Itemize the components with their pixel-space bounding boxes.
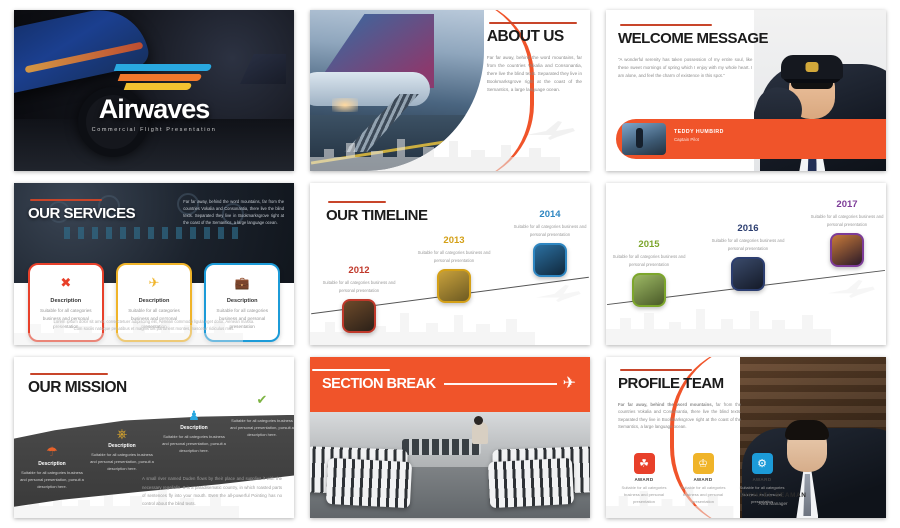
slide-our-services[interactable]: OUR SERVICES Far far away, behind the wo… <box>14 183 294 344</box>
boarding-pass-icon: ✈ <box>144 273 164 293</box>
airplane-silhouette-icon <box>534 283 582 303</box>
services-footer: Lorem ipsum dolor sit amet, consectetuer… <box>52 318 256 333</box>
slide-section-break[interactable]: SECTION BREAK ✈ <box>310 357 590 518</box>
mission-item[interactable]: ⎈ Description Suitable for all categorie… <box>90 427 154 472</box>
airplane-icon: ✈ <box>563 376 576 392</box>
seat-row <box>488 458 574 508</box>
timeline-thumbnail <box>731 257 765 291</box>
badge-icon: ⚙ <box>752 453 773 474</box>
timeline-desc: Suitable for all categories business and… <box>612 253 686 268</box>
timeline-node[interactable]: 2017 Suitable for all categories busines… <box>810 199 884 267</box>
award-title: AWARD <box>618 477 670 482</box>
profile-text-column: PROFILE TEAM Far far away, behind the wo… <box>618 375 741 431</box>
pilot-cap-icon: ⎈ <box>90 427 154 440</box>
timeline-desc: Suitable for all categories business and… <box>513 223 587 238</box>
timeline-thumbnail <box>533 243 567 277</box>
mission-item-title: Description <box>90 443 154 449</box>
light-glow <box>332 98 358 112</box>
mission-item-desc: Suitable for all categories business and… <box>20 469 84 490</box>
timeline-desc: Suitable for all categories business and… <box>810 213 884 228</box>
airplane-silhouette-icon <box>826 278 876 299</box>
timeline-node[interactable]: 2015 Suitable for all categories busines… <box>612 239 686 307</box>
airplane-silhouette-icon <box>524 119 576 141</box>
timeline-desc: Suitable for all categories business and… <box>417 249 491 264</box>
brand-title: Airwaves <box>14 96 294 123</box>
welcome-quote: "A wonderful serenity has taken possessi… <box>618 56 752 80</box>
mission-item[interactable]: ✔ Description Suitable for all categorie… <box>230 393 294 438</box>
slide-profile-team[interactable]: PROFILE TEAM Far far away, behind the wo… <box>606 357 886 518</box>
section-break-banner: SECTION BREAK ✈ <box>310 357 590 412</box>
speaker-role: Captain Pilot <box>674 137 724 142</box>
ticket-icon: ✖ <box>56 273 76 293</box>
slide-about-us[interactable]: ABOUT US Far far away, behind the word m… <box>310 10 590 171</box>
timeline-node[interactable]: 2014 Suitable for all categories busines… <box>513 209 587 277</box>
about-body: Far far away, behind the word mountains,… <box>487 54 582 94</box>
mission-item-title: Description <box>230 409 294 415</box>
seat-row <box>326 458 412 508</box>
about-title: ABOUT US <box>487 28 582 46</box>
person-icon: ♟ <box>162 409 226 422</box>
mission-item[interactable]: ☂ Description Suitable for all categorie… <box>20 445 84 490</box>
welcome-text-column: WELCOME MESSAGE "A wonderful serenity ha… <box>618 30 752 80</box>
mission-paragraph: A small river named Duden flows by their… <box>142 475 282 508</box>
speaker-name: TEDDY HUMBIRD <box>674 129 724 135</box>
speaker-card[interactable]: TEDDY HUMBIRD Captain Pilot <box>616 119 886 159</box>
timeline-year: 2017 <box>810 199 884 210</box>
member-hair-shape <box>785 420 829 440</box>
timeline-year: 2012 <box>322 265 396 276</box>
timeline-year: 2015 <box>612 239 686 250</box>
suitcase-icon: 💼 <box>232 273 252 293</box>
member-name: MICHAEL SEAMAN <box>718 492 828 499</box>
medal-icon: ☘ <box>634 453 655 474</box>
welcome-title: WELCOME MESSAGE <box>618 30 752 47</box>
timeline-thumbnail <box>830 233 864 267</box>
cap-badge-icon <box>806 62 819 72</box>
timeline-node[interactable]: 2013 Suitable for all categories busines… <box>417 235 491 303</box>
award-item[interactable]: ☘ AWARD Suitable for all categories busi… <box>618 453 670 506</box>
award-title: AWARD <box>736 477 788 482</box>
timeline-thumbnail <box>437 269 471 303</box>
mission-item-desc: Suitable for all categories business and… <box>230 417 294 438</box>
mission-item-desc: Suitable for all categories business and… <box>162 433 226 454</box>
profile-lead: Far far away, behind the word mountains, <box>618 402 713 407</box>
timeline-year: 2013 <box>417 235 491 246</box>
banner-rule <box>444 383 557 385</box>
seat-row <box>402 439 480 455</box>
services-title: OUR SERVICES <box>28 205 135 222</box>
swoosh-icon <box>79 64 229 94</box>
slide-our-mission[interactable]: OUR MISSION ☂ Description Suitable for a… <box>14 357 294 518</box>
section-break-title: SECTION BREAK <box>322 376 436 392</box>
check-icon: ✔ <box>230 393 294 406</box>
member-role: Area Manager <box>718 501 828 506</box>
parachute-icon: ☂ <box>20 445 84 458</box>
slide-cover[interactable]: Airwaves Commercial Flight Presentation <box>14 10 294 171</box>
brand-logo: Airwaves Commercial Flight Presentation <box>14 64 294 133</box>
mission-item-title: Description <box>162 425 226 431</box>
slide-deck-grid: Airwaves Commercial Flight Presentation … <box>0 0 900 528</box>
slide-our-timeline-1[interactable]: OUR TIMELINE 2012 Suitable for all categ… <box>310 183 590 344</box>
member-signature: MICHAEL SEAMAN Area Manager <box>718 492 828 506</box>
airport-seats-photo <box>310 412 590 518</box>
mission-item-desc: Suitable for all categories business and… <box>90 451 154 472</box>
mission-item[interactable]: ♟ Description Suitable for all categorie… <box>162 409 226 454</box>
services-intro: Far far away, behind the word mountains,… <box>183 199 284 227</box>
slide-our-timeline-2[interactable]: 2015 Suitable for all categories busines… <box>606 183 886 344</box>
mission-title: OUR MISSION <box>28 379 127 397</box>
slide-welcome-message[interactable]: WELCOME MESSAGE "A wonderful serenity ha… <box>606 10 886 171</box>
timeline-node[interactable]: 2016 Suitable for all categories busines… <box>711 223 785 291</box>
timeline-year: 2016 <box>711 223 785 234</box>
mission-item-title: Description <box>20 461 84 467</box>
brand-tagline: Commercial Flight Presentation <box>14 127 294 133</box>
timeline-node[interactable]: 2012 Suitable for all categories busines… <box>322 265 396 333</box>
speaker-thumbnail <box>622 123 666 155</box>
seated-person-shape <box>472 422 488 444</box>
about-text-column: ABOUT US Far far away, behind the word m… <box>487 28 582 94</box>
timeline-thumbnail <box>342 299 376 333</box>
timeline-desc: Suitable for all categories business and… <box>711 237 785 252</box>
profile-title: PROFILE TEAM <box>618 375 741 392</box>
speaker-info: TEDDY HUMBIRD Captain Pilot <box>674 129 724 142</box>
trophy-icon: ♔ <box>693 453 714 474</box>
award-desc: Suitable for all categories business and… <box>618 484 670 506</box>
person-head-shape <box>474 416 483 425</box>
timeline-year: 2014 <box>513 209 587 220</box>
timeline-desc: Suitable for all categories business and… <box>322 279 396 294</box>
timeline-title: OUR TIMELINE <box>326 207 428 224</box>
timeline-thumbnail <box>632 273 666 307</box>
award-title: AWARD <box>677 477 729 482</box>
